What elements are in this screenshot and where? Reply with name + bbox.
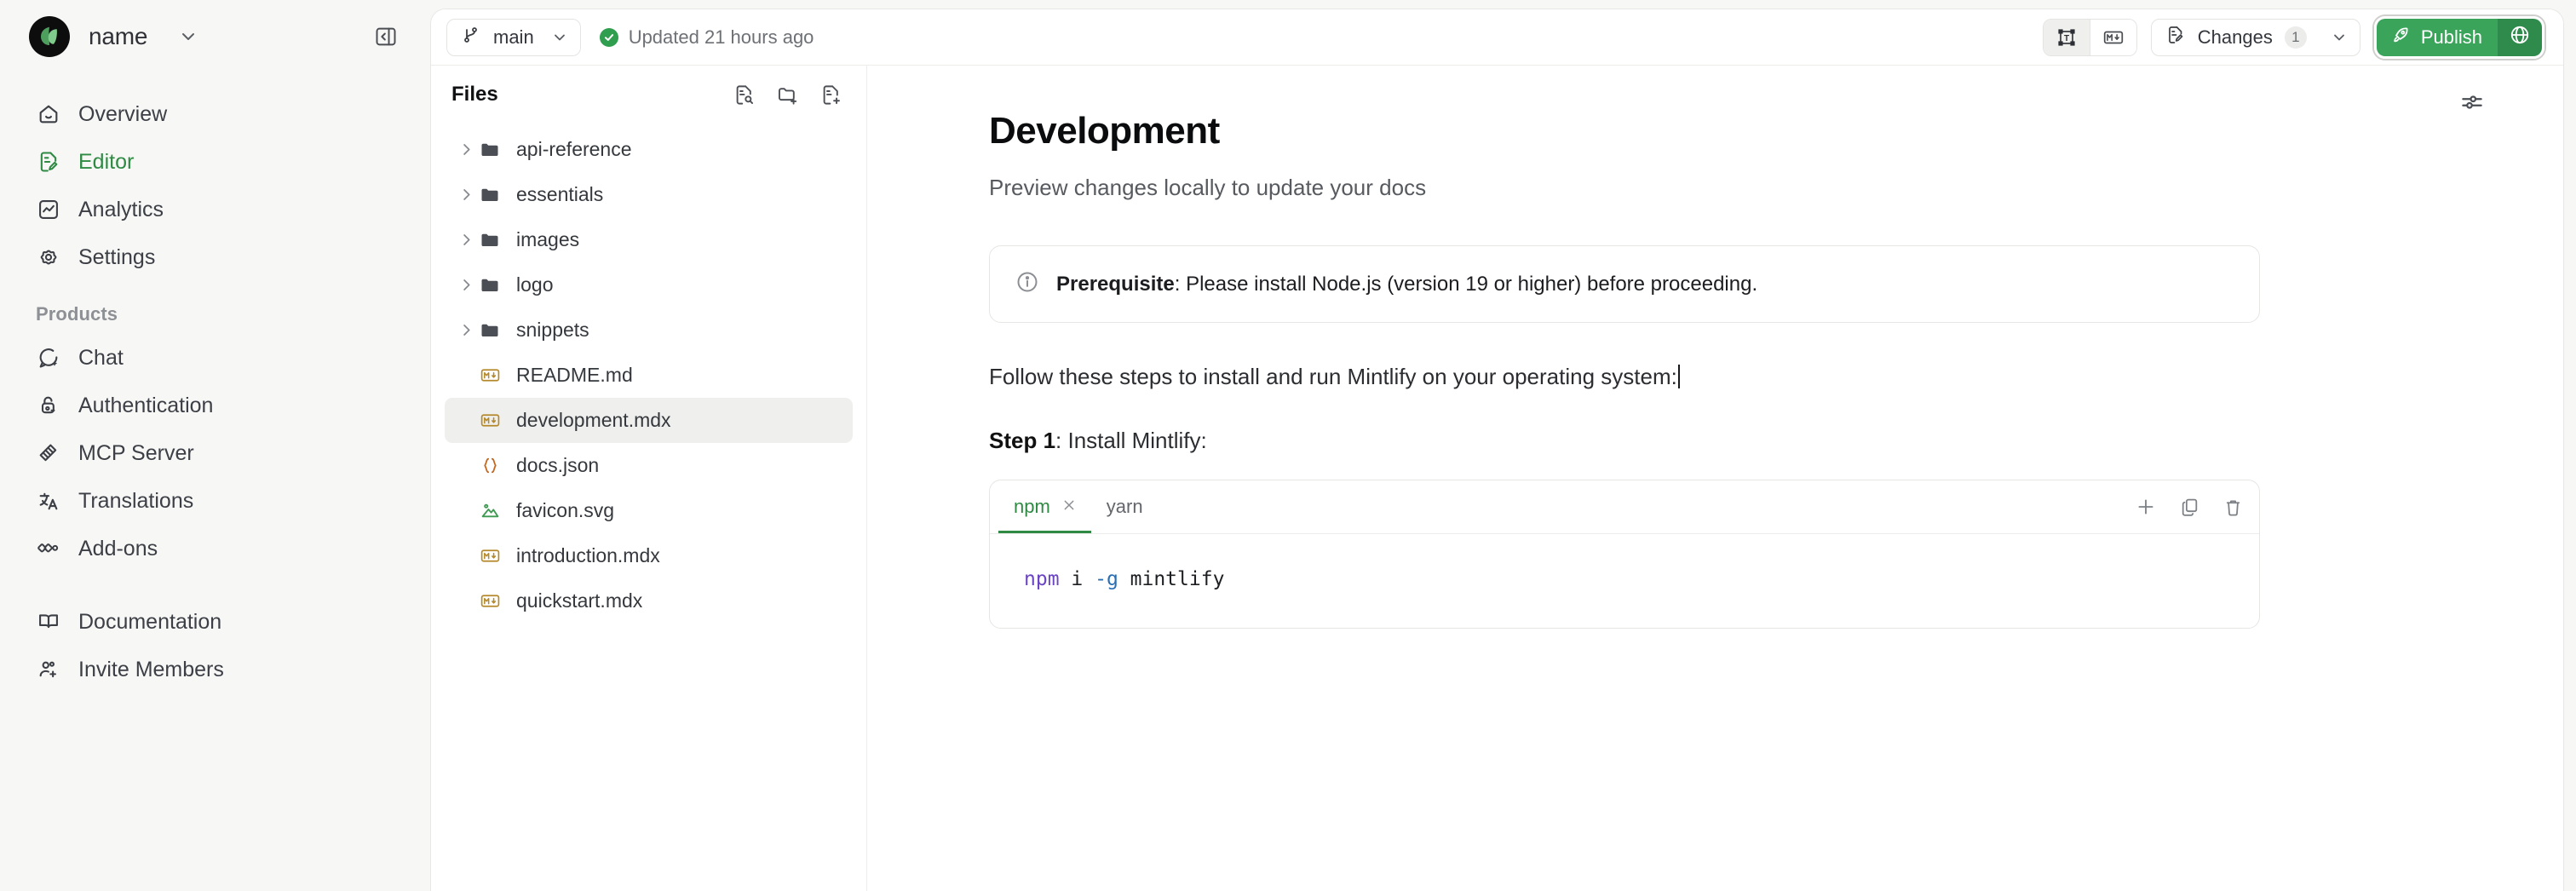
markdown-file-icon <box>477 365 503 386</box>
sidebar-item-editor[interactable]: Editor <box>22 138 408 186</box>
step-1-line: Step 1: Install Mintlify: <box>989 428 2260 454</box>
sidebar-nav: Overview Editor <box>0 73 430 693</box>
tree-row-label: development.mdx <box>516 409 671 432</box>
sidebar-item-overview[interactable]: Overview <box>22 90 408 138</box>
visual-editor-button[interactable]: T <box>2044 20 2090 55</box>
chevron-right-icon[interactable] <box>455 232 477 248</box>
sidebar-item-settings[interactable]: Settings <box>22 233 408 281</box>
folder-icon <box>477 185 503 205</box>
add-tab-icon[interactable] <box>2135 496 2157 518</box>
tree-row-label: logo <box>516 273 553 296</box>
tree-row[interactable]: quickstart.mdx <box>445 578 853 624</box>
main-area: main Updated 21 hours ago <box>430 0 2576 891</box>
tree-row[interactable]: docs.json <box>445 443 853 488</box>
sidebar-item-label: Documentation <box>78 610 221 635</box>
chevron-right-icon[interactable] <box>455 187 477 203</box>
nav-gap <box>22 572 408 598</box>
search-file-icon[interactable] <box>733 83 756 106</box>
sidebar-item-documentation[interactable]: Documentation <box>22 598 408 646</box>
tree-row[interactable]: images <box>445 217 853 262</box>
code-token-package: mintlify <box>1118 568 1225 590</box>
branch-label: main <box>493 26 534 49</box>
folder-icon <box>477 275 503 296</box>
code-tools <box>2135 496 2244 518</box>
files-panel: Files <box>431 65 867 891</box>
sidebar-item-label: Add-ons <box>78 537 158 561</box>
tree-row[interactable]: logo <box>445 262 853 308</box>
sidebar-item-label: Chat <box>78 346 124 371</box>
files-header: Files <box>431 66 866 124</box>
intro-paragraph[interactable]: Follow these steps to install and run Mi… <box>989 364 2260 390</box>
sidebar-item-chat[interactable]: Chat <box>22 334 408 382</box>
markdown-file-icon <box>477 545 503 566</box>
lock-icon <box>36 393 61 418</box>
document-body: Development Preview changes locally to u… <box>867 66 2563 629</box>
document-inner: Development Preview changes locally to u… <box>989 110 2260 629</box>
home-icon <box>36 101 61 127</box>
files-actions <box>733 83 842 106</box>
chevron-right-icon[interactable] <box>455 277 477 293</box>
code-block: npm yarn <box>989 480 2260 629</box>
files-title: Files <box>451 83 498 106</box>
file-tree: api-reference essentials <box>431 124 866 624</box>
page-title: Development <box>989 110 2260 152</box>
callout-rest: : Please install Node.js (version 19 or … <box>1175 273 1757 296</box>
sidebar-item-label: Overview <box>78 102 167 127</box>
chat-sparkle-icon <box>36 345 61 371</box>
tree-row-label: essentials <box>516 183 603 206</box>
tree-row[interactable]: introduction.mdx <box>445 533 853 578</box>
tree-row-label: favicon.svg <box>516 499 614 522</box>
sidebar-item-label: Translations <box>78 489 193 514</box>
markdown-file-icon <box>477 410 503 431</box>
tree-row[interactable]: snippets <box>445 308 853 353</box>
tree-row[interactable]: README.md <box>445 353 853 398</box>
code-tab-label: npm <box>1014 496 1050 518</box>
workspace-name: name <box>89 23 147 50</box>
sidebar-item-label: MCP Server <box>78 441 194 466</box>
file-edit-icon <box>2165 25 2186 50</box>
intro-paragraph-text: Follow these steps to install and run Mi… <box>989 364 1677 389</box>
file-pencil-icon <box>36 149 61 175</box>
changes-count-badge: 1 <box>2285 26 2307 49</box>
svg-text:T: T <box>2064 34 2069 43</box>
sidebar-item-label: Analytics <box>78 198 164 222</box>
page-subtitle: Preview changes locally to update your d… <box>989 175 2260 201</box>
publish-button[interactable]: Publish <box>2377 19 2498 56</box>
view-mode-toggle: T <box>2043 19 2137 56</box>
code-tab-bar: npm yarn <box>990 480 2259 533</box>
markdown-editor-button[interactable] <box>2090 20 2136 55</box>
json-file-icon <box>477 455 503 476</box>
publish-label: Publish <box>2421 26 2482 49</box>
sidebar-item-invite-members[interactable]: Invite Members <box>22 646 408 693</box>
gear-icon <box>36 244 61 270</box>
new-folder-icon[interactable] <box>776 83 799 106</box>
text-cursor <box>1678 365 1680 388</box>
tree-row-label: quickstart.mdx <box>516 589 642 612</box>
info-icon <box>1015 270 1039 298</box>
chevron-down-icon <box>178 26 198 47</box>
top-toolbar: main Updated 21 hours ago <box>431 9 2563 65</box>
sidebar-item-mcp-server[interactable]: MCP Server <box>22 429 408 477</box>
changes-label: Changes <box>2198 26 2273 49</box>
tree-row[interactable]: api-reference <box>445 127 853 172</box>
workspace-switcher[interactable]: name <box>29 16 198 57</box>
tree-row-label: docs.json <box>516 454 599 477</box>
update-status: Updated 21 hours ago <box>600 26 814 49</box>
leaf-logo-icon <box>29 16 70 57</box>
image-file-icon <box>477 500 503 521</box>
callout-text: Prerequisite: Please install Node.js (ve… <box>1056 273 1757 296</box>
brand-row: name <box>0 0 430 73</box>
chevron-down-icon <box>551 29 568 46</box>
code-content[interactable]: npm i -g mintlify <box>990 534 2259 628</box>
sidebar-section-products: Products <box>22 281 408 334</box>
callout-bold: Prerequisite <box>1056 273 1175 296</box>
delete-icon[interactable] <box>2222 497 2244 518</box>
copy-icon[interactable] <box>2179 497 2200 518</box>
code-tab-label: yarn <box>1107 496 1143 518</box>
code-tab-yarn[interactable]: yarn <box>1091 480 1159 533</box>
chevron-right-icon[interactable] <box>455 322 477 338</box>
code-token-arg: i <box>1060 568 1095 590</box>
git-branch-icon <box>461 25 481 50</box>
sidebar-item-label: Invite Members <box>78 658 224 682</box>
sidebar-item-label: Settings <box>78 245 155 270</box>
tree-row-label: images <box>516 228 579 251</box>
tree-row[interactable]: development.mdx <box>445 398 853 443</box>
tree-row-label: api-reference <box>516 138 632 161</box>
tree-row-label: introduction.mdx <box>516 544 660 567</box>
toolbar-right: T <box>2043 16 2544 59</box>
tree-row[interactable]: essentials <box>445 172 853 217</box>
rocket-icon <box>2390 25 2411 50</box>
markdown-file-icon <box>477 590 503 612</box>
code-token-command: npm <box>1024 568 1060 590</box>
update-status-text: Updated 21 hours ago <box>629 26 814 49</box>
tree-row-label: snippets <box>516 319 589 342</box>
changes-button[interactable]: Changes 1 <box>2151 19 2360 56</box>
code-token-flag: -g <box>1095 568 1118 590</box>
sidebar-item-analytics[interactable]: Analytics <box>22 186 408 233</box>
code-tab-npm[interactable]: npm <box>998 480 1091 533</box>
main-card: main Updated 21 hours ago <box>430 9 2564 891</box>
sidebar-item-authentication[interactable]: Authentication <box>22 382 408 429</box>
tree-row[interactable]: favicon.svg <box>445 488 853 533</box>
puzzle-diamond-icon <box>36 536 61 561</box>
step-1-rest: : Install Mintlify: <box>1055 428 1207 453</box>
chevron-down-icon <box>2331 29 2348 46</box>
sidebar-item-add-ons[interactable]: Add-ons <box>22 525 408 572</box>
sidebar-item-label: Editor <box>78 150 134 175</box>
app-root: name <box>0 0 2576 891</box>
check-circle-icon <box>600 28 618 47</box>
chevron-right-icon[interactable] <box>455 141 477 158</box>
translate-icon <box>36 488 61 514</box>
document-editor[interactable]: Development Preview changes locally to u… <box>867 65 2563 891</box>
new-file-icon[interactable] <box>819 83 842 106</box>
chart-square-icon <box>36 197 61 222</box>
close-icon[interactable] <box>1062 497 1076 517</box>
book-icon <box>36 609 61 635</box>
publish-control: Publish <box>2374 16 2544 59</box>
content-split: Files <box>431 65 2563 891</box>
sidebar-collapse-button[interactable] <box>369 20 403 54</box>
sidebar: name <box>0 0 430 891</box>
sidebar-item-label: Authentication <box>78 394 213 418</box>
branch-selector[interactable]: main <box>446 19 581 56</box>
folder-icon <box>477 230 503 250</box>
step-1-bold: Step 1 <box>989 428 1055 453</box>
prerequisite-callout: Prerequisite: Please install Node.js (ve… <box>989 245 2260 323</box>
tree-row-label: README.md <box>516 364 633 387</box>
publish-globe-button[interactable] <box>2498 19 2542 56</box>
folder-icon <box>477 140 503 160</box>
globe-icon <box>2509 24 2531 50</box>
sidebar-item-translations[interactable]: Translations <box>22 477 408 525</box>
user-plus-icon <box>36 657 61 682</box>
folder-icon <box>477 320 503 341</box>
layers-icon <box>36 440 61 466</box>
